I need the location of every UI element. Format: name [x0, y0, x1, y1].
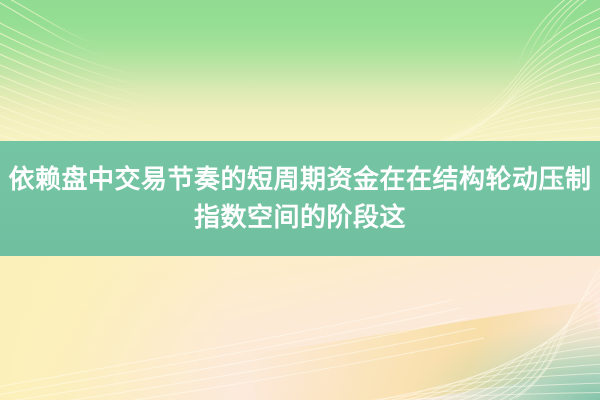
top-gradient-panel	[0, 0, 600, 141]
caption-line-2: 指数空间的阶段这	[194, 200, 406, 236]
caption-block: 依赖盘中交易节奏的短周期资金在在结构轮动压制 指数空间的阶段这	[0, 141, 600, 256]
bottom-right-green-corner	[330, 318, 600, 400]
decorative-banner: 依赖盘中交易节奏的短周期资金在在结构轮动压制 指数空间的阶段这	[0, 0, 600, 400]
caption-line-1: 依赖盘中交易节奏的短周期资金在在结构轮动压制	[8, 162, 591, 198]
